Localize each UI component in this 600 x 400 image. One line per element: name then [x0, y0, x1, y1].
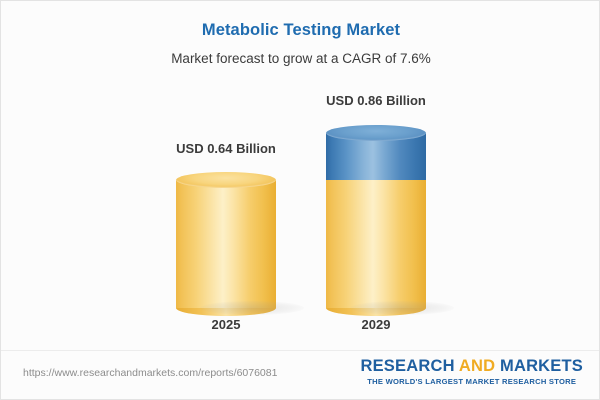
logo-word-and: AND [459, 357, 495, 375]
cylinder-segment-base-2029 [326, 172, 426, 308]
chart-card: Metabolic Testing Market Market forecast… [0, 0, 600, 400]
category-label-2029: 2029 [306, 317, 446, 332]
bar-shadow-2025 [200, 301, 304, 315]
cylinder-2029[interactable] [326, 125, 426, 308]
logo-word-research: RESEARCH [360, 357, 458, 375]
logo-wordmark: RESEARCH AND MARKETS [360, 357, 583, 376]
cylinder-segment-base-2025 [176, 172, 276, 308]
cylinder-segment-growth-2029 [326, 125, 426, 180]
cylinder-top-cap-2029 [326, 125, 426, 141]
brand-logo[interactable]: RESEARCH AND MARKETS THE WORLD'S LARGEST… [360, 357, 583, 386]
bar-value-label-2029: USD 0.86 Billion [306, 93, 446, 108]
bar-shadow-2029 [350, 301, 454, 315]
logo-word-markets: MARKETS [495, 357, 583, 375]
report-url[interactable]: https://www.researchandmarkets.com/repor… [23, 367, 277, 379]
cylinder-body-base-2029 [326, 180, 426, 308]
footer: https://www.researchandmarkets.com/repor… [1, 350, 599, 399]
logo-tagline: THE WORLD'S LARGEST MARKET RESEARCH STOR… [360, 377, 583, 386]
cylinder-2025[interactable] [176, 172, 276, 308]
category-label-2025: 2025 [156, 317, 296, 332]
cylinder-body-2025 [176, 180, 276, 308]
cylinder-top-cap-2025 [176, 172, 276, 188]
plot-area: USD 0.64 Billion 2025 USD 0.86 Billion [1, 1, 600, 351]
bar-value-label-2025: USD 0.64 Billion [156, 141, 296, 156]
